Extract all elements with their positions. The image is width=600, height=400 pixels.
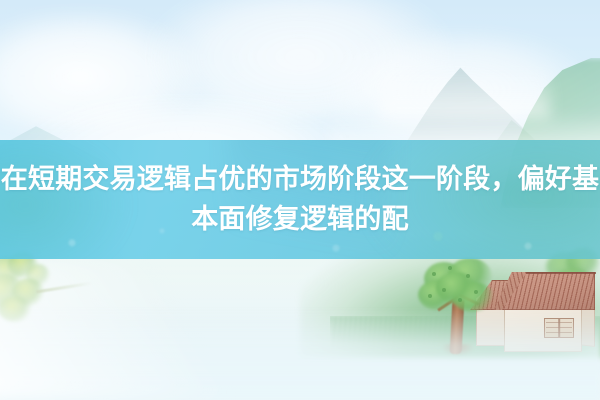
headline-text: 在短期交易逻辑占优的市场阶段这一阶段，偏好基 本面修复逻辑的配 <box>0 140 600 259</box>
headline-line-2: 本面修复逻辑的配 <box>191 201 409 239</box>
banner-image: 在短期交易逻辑占优的市场阶段这一阶段，偏好基 本面修复逻辑的配 <box>0 0 600 400</box>
mist-veil <box>380 70 550 118</box>
house-roof-ridge <box>526 272 596 274</box>
headline-line-1: 在短期交易逻辑占优的市场阶段这一阶段，偏好基 <box>1 161 599 199</box>
left-wash <box>0 260 310 400</box>
